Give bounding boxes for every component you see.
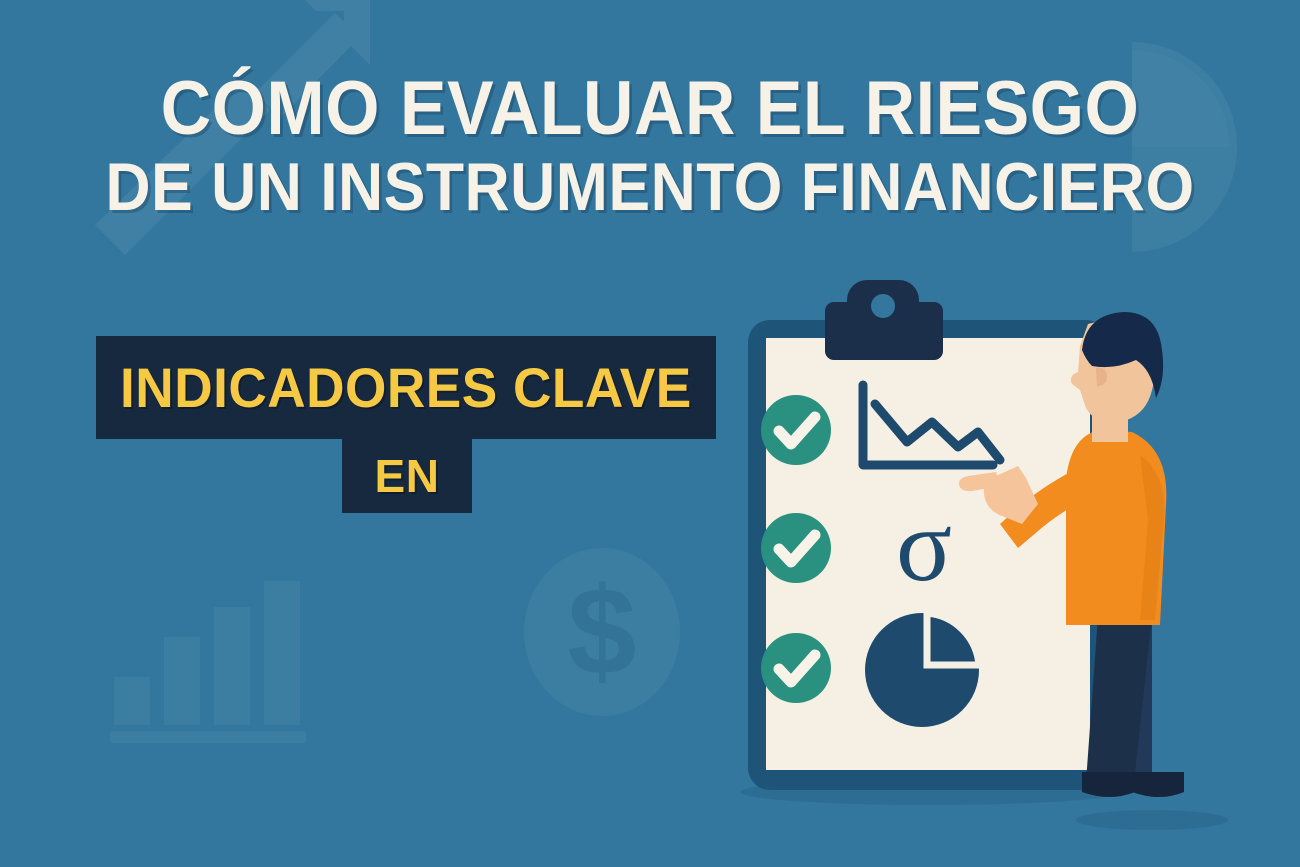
illustration-analyst-clipboard: σ: [700, 280, 1300, 867]
clipboard-clip: [825, 280, 943, 360]
check-circle-1: [761, 395, 831, 465]
badge-sub-box: EN: [342, 439, 472, 513]
clipboard: σ: [748, 280, 1108, 790]
check-circle-3: [761, 633, 831, 703]
poster-canvas: $ CÓMO EVALUAR EL RIESGO DE UN INSTRUMEN…: [0, 0, 1300, 867]
badge-block: INDICADORES CLAVE EN: [96, 336, 716, 513]
headline-line-2: DE UN INSTRUMENTO FINANCIERO: [52, 154, 1248, 221]
check-circle-2: [761, 513, 831, 583]
pie-chart-icon: [865, 613, 979, 727]
person-shoe-front: [1082, 772, 1135, 797]
headline-line-1: CÓMO EVALUAR EL RIESGO: [52, 72, 1248, 146]
bar-chart-watermark: [110, 565, 330, 750]
person-ground-shadow: [1076, 810, 1228, 830]
svg-text:$: $: [568, 563, 637, 701]
badge-main-box: INDICADORES CLAVE: [96, 336, 716, 439]
dollar-coin-watermark: $: [520, 545, 685, 720]
badge-sub-label: EN: [375, 449, 440, 503]
headline-block: CÓMO EVALUAR EL RIESGO DE UN INSTRUMENTO…: [0, 72, 1300, 221]
badge-main-label: INDICADORES CLAVE: [120, 355, 692, 420]
illustration-svg: σ: [700, 280, 1300, 867]
person-shoe-back: [1132, 772, 1184, 797]
sigma-volatility-icon: σ: [896, 488, 952, 603]
